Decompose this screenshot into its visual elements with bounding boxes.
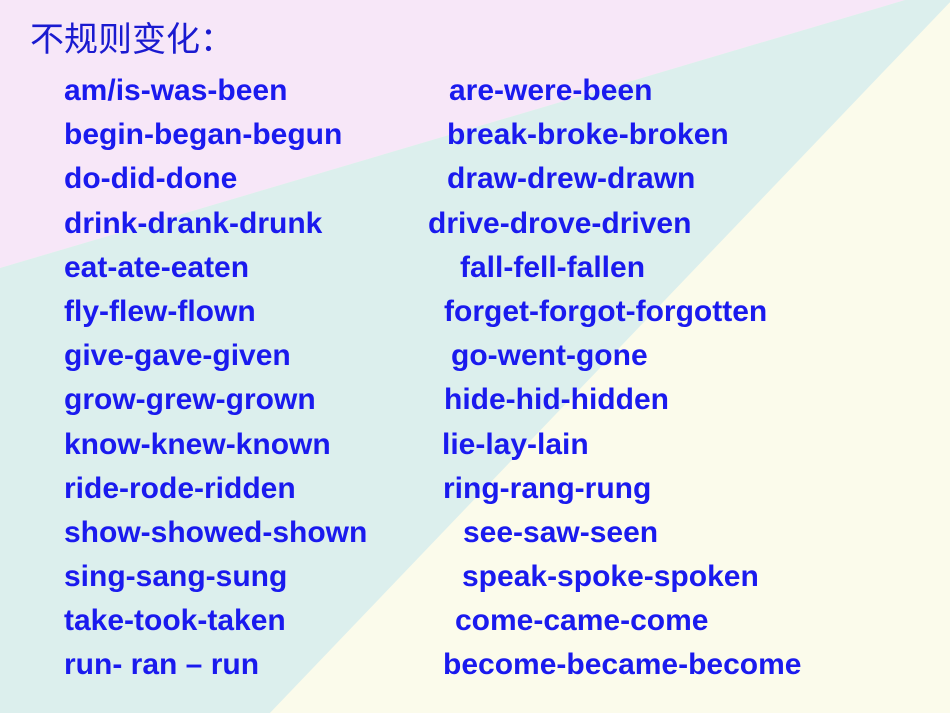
verb-entry-right: go-went-gone (451, 341, 648, 371)
verb-row: take-took-takencome-came-come (0, 606, 950, 650)
verb-entry-right: speak-spoke-spoken (462, 562, 759, 592)
verb-entry-left: ride-rode-ridden (64, 474, 296, 504)
verb-entry-left: fly-flew-flown (64, 297, 256, 327)
verb-entry-left: give-gave-given (64, 341, 291, 371)
verb-entry-left: show-showed-shown (64, 518, 367, 548)
verb-entry-left: sing-sang-sung (64, 562, 287, 592)
verb-entry-right: ring-rang-rung (443, 474, 651, 504)
verb-entry-right: lie-lay-lain (442, 430, 589, 460)
verb-entry-left: drink-drank-drunk (64, 209, 322, 239)
verb-entry-right: fall-fell-fallen (460, 253, 645, 283)
verb-entry-right: hide-hid-hidden (444, 385, 669, 415)
verb-entry-right: are-were-been (449, 76, 652, 106)
verb-entry-left: run- ran – run (64, 650, 259, 680)
page-title: 不规则变化： (30, 22, 234, 59)
verb-row: grow-grew-grownhide-hid-hidden (0, 385, 950, 429)
verb-entry-left: take-took-taken (64, 606, 286, 636)
verb-entry-left: am/is-was-been (64, 76, 287, 106)
verb-row: am/is-was-beenare-were-been (0, 76, 950, 120)
verb-entry-left: grow-grew-grown (64, 385, 316, 415)
irregular-verb-list: am/is-was-beenare-were-beenbegin-began-b… (0, 76, 950, 695)
verb-entry-right: become-became-become (443, 650, 801, 680)
verb-row: ride-rode-riddenring-rang-rung (0, 474, 950, 518)
verb-row: begin-began-begunbreak-broke-broken (0, 120, 950, 164)
verb-entry-right: drive-drove-driven (428, 209, 691, 239)
slide-content: 不规则变化： am/is-was-beenare-were-beenbegin-… (0, 0, 950, 713)
verb-entry-right: see-saw-seen (463, 518, 658, 548)
verb-row: do-did-donedraw-drew-drawn (0, 164, 950, 208)
verb-row: give-gave-givengo-went-gone (0, 341, 950, 385)
verb-row: run- ran – runbecome-became-become (0, 650, 950, 694)
slide-canvas: 不规则变化： am/is-was-beenare-were-beenbegin-… (0, 0, 950, 713)
verb-row: show-showed-shownsee-saw-seen (0, 518, 950, 562)
verb-entry-right: break-broke-broken (447, 120, 729, 150)
verb-entry-left: do-did-done (64, 164, 237, 194)
verb-entry-right: draw-drew-drawn (447, 164, 695, 194)
verb-entry-left: know-knew-known (64, 430, 331, 460)
verb-row: eat-ate-eatenfall-fell-fallen (0, 253, 950, 297)
verb-entry-left: eat-ate-eaten (64, 253, 249, 283)
verb-row: sing-sang-sungspeak-spoke-spoken (0, 562, 950, 606)
verb-entry-left: begin-began-begun (64, 120, 342, 150)
verb-entry-right: forget-forgot-forgotten (444, 297, 767, 327)
verb-row: fly-flew-flownforget-forgot-forgotten (0, 297, 950, 341)
verb-row: drink-drank-drunkdrive-drove-driven (0, 209, 950, 253)
verb-entry-right: come-came-come (455, 606, 708, 636)
verb-row: know-knew-knownlie-lay-lain (0, 430, 950, 474)
